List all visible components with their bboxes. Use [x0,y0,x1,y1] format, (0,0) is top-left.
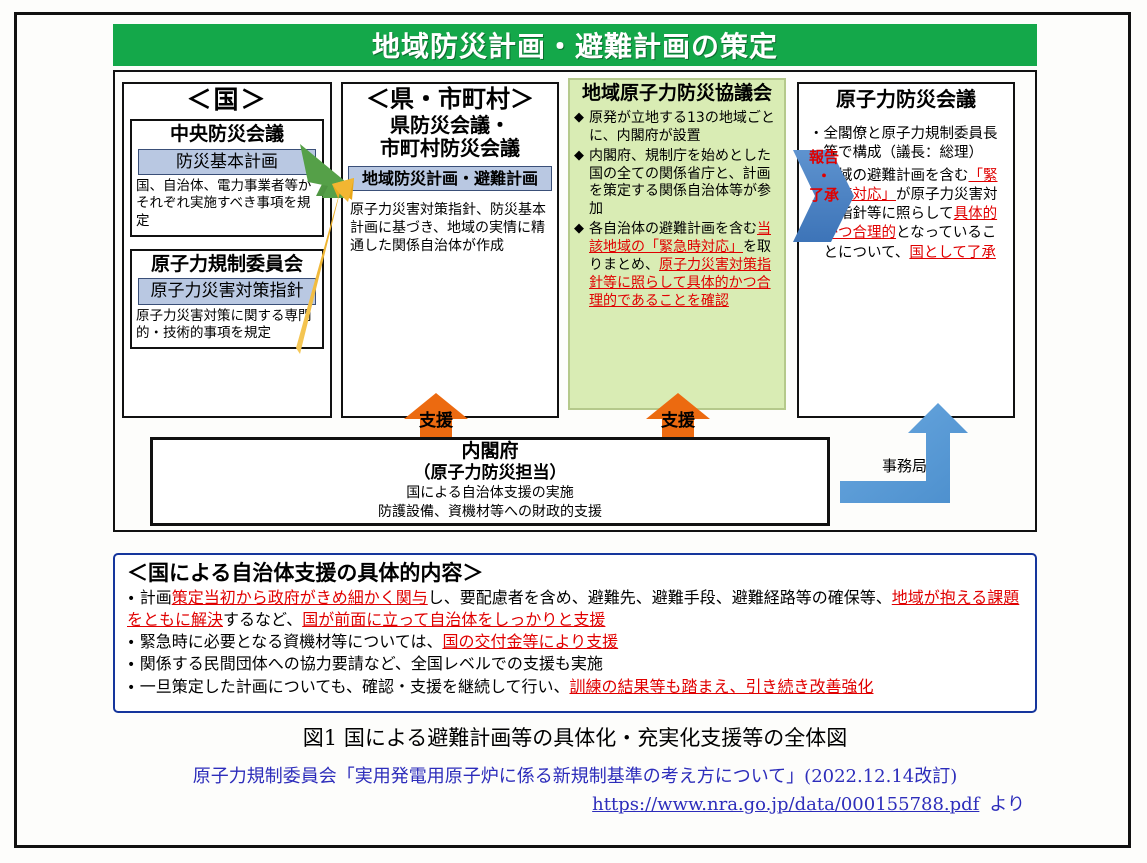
source-url-line: https://www.nra.go.jp/data/000155788.pdf… [113,790,1037,816]
column-regional-nuclear-council-heading: 地域原子力防災協議会 [570,80,784,105]
column-prefecture-body: 原子力災害対策指針、防災基本計画に基づき、地域の実情に精通した関係自治体が作成 [350,201,550,256]
text-segment-0-1: 策定当初から政府がきめ細かく関与 [172,588,428,607]
report-approval-arrow: 報告 ・ 了承 [793,140,855,252]
bullet-marker-icon: ◆ [574,110,589,146]
bullet-item: ◆各自治体の避難計画を含む当該地域の「緊急時対応」を取りまとめ、原子力災害対策指… [574,221,781,311]
text-segment-1-0: 内閣府、規制庁を始めとした国の全ての関係省庁と、計画を策定する関係自治体等が参加 [589,148,771,218]
bullet-marker-icon: ◆ [574,148,589,220]
source-url-link[interactable]: https://www.nra.go.jp/data/000155788.pdf [592,794,979,815]
box-central-disaster-council-body: 国、自治体、電力事業者等がそれぞれ実施すべき事項を規定 [136,178,318,231]
box-central-disaster-council-title: 中央防災会議 [136,123,318,146]
report-approval-label: 報告 ・ 了承 [793,148,855,204]
support-detail-line: • 関係する民間団体への協力要請など、全国レベルでの支援も実施 [127,653,1025,674]
column-national: ＜国＞ 中央防災会議 防災基本計画 国、自治体、電力事業者等がそれぞれ実施すべき… [122,82,332,418]
highlight-basic-disaster-plan: 防災基本計画 [138,149,316,175]
support-arrow-left-label: 支援 [404,406,468,431]
bullet-marker-icon: • [127,680,140,696]
bullet-text: 原発が立地する13の地域ごとに、内閣府が設置 [589,110,781,146]
box-central-disaster-council: 中央防災会議 防災基本計画 国、自治体、電力事業者等がそれぞれ実施すべき事項を規… [130,119,324,237]
support-arrow-right-label: 支援 [646,406,710,431]
support-detail-line: • 計画策定当初から政府がきめ細かく関与し、要配慮者を含め、避難先、避難手段、避… [127,587,1025,630]
text-segment-2-0: 関係する民間団体への協力要請など、全国レベルでの支援も実施 [140,654,603,673]
text-segment-1-1: 国の交付金等により支援 [442,632,618,651]
cabinet-office-detail-1: 国による自治体支援の実施 [406,484,574,503]
cabinet-office-name: 内閣府 [461,441,518,463]
support-details-title: ＜国による自治体支援の具体的内容＞ [127,561,1025,586]
secretariat-label: 事務局 [882,455,927,476]
text-segment-1-5: 国として了承 [909,245,996,261]
highlight-regional-disaster-evacuation-plan: 地域防災計画・避難計画 [348,166,552,191]
report-label-line1: 報告 [793,148,855,167]
bullet-item: ◆原発が立地する13の地域ごとに、内閣府が設置 [574,110,781,146]
column-prefecture-heading-line3: 市町村防災会議 [343,137,557,160]
bullet-item: ◆内閣府、規制庁を始めとした国の全ての関係省庁と、計画を策定する関係自治体等が参… [574,148,781,220]
text-segment-2-1: む [743,221,757,237]
bullet-marker-icon: ◆ [574,221,589,311]
text-segment-0-2: し、要配慮者を含め、避難先、避難手段、避難経路等の確保等、 [428,588,892,607]
title-banner: 地域防災計画・避難計画の策定 [113,24,1037,66]
highlight-nuclear-guideline: 原子力災害対策指針 [138,278,316,304]
bullet-marker-icon: • [127,657,140,673]
page-title: 地域防災計画・避難計画の策定 [372,25,778,65]
column-regional-nuclear-council: 地域原子力防災協議会 ◆原発が立地する13の地域ごとに、内閣府が設置◆内閣府、規… [568,78,786,410]
column-national-heading: ＜国＞ [124,84,330,115]
figure-caption: 図1 国による避難計画等の具体化・充実化支援等の全体図 [113,722,1037,752]
report-label-line2: ・ [793,167,855,186]
text-segment-3-1: 訓練の結果等も踏まえ、引き続き改善強化 [569,677,873,696]
column-prefecture-heading-line2: 県防災会議・ [343,114,557,137]
column-prefecture-heading-line1: ＜県・市町村＞ [343,86,557,114]
cabinet-office-subtitle: （原子力防災担当） [414,463,567,483]
text-segment-0-5: 国が前面に立って自治体をしっかりと支援 [302,610,605,629]
cabinet-office-detail-2: 防護設備、資機材等への財政的支援 [378,503,602,522]
report-label-line3: 了承 [793,186,855,205]
column-nuclear-disaster-council-heading: 原子力防災会議 [799,84,1013,111]
column-prefecture-municipality: ＜県・市町村＞ 県防災会議・ 市町村防災会議 地域防災計画・避難計画 原子力災害… [341,82,559,418]
box-nra-committee: 原子力規制委員会 原子力災害対策指針 原子力災害対策に関する専門的・技術的事項を… [130,249,324,349]
column-prefecture-heading: ＜県・市町村＞ 県防災会議・ 市町村防災会議 [343,84,557,160]
support-detail-line: • 一旦策定した計画についても、確認・支援を継続して行い、訓練の結果等も踏まえ、… [127,676,1025,697]
source-citation: 原子力規制委員会「実用発電用原子炉に係る新規制基準の考え方について」(2022.… [113,762,1037,788]
text-segment-3-0: 一旦策定した計画についても、確認・支援を継続して行い、 [140,677,570,696]
source-suffix: より [989,794,1025,815]
support-details-box: ＜国による自治体支援の具体的内容＞ • 計画策定当初から政府がきめ細かく関与し、… [113,553,1037,713]
text-segment-2-0: 各自治体の避難計画を含 [589,221,743,237]
bullet-text: 内閣府、規制庁を始めとした国の全ての関係省庁と、計画を策定する関係自治体等が参加 [589,148,781,220]
text-segment-0-0: 原発が立地する13の地域ごとに、内閣府が設置 [589,110,775,144]
support-details-lines: • 計画策定当初から政府がきめ細かく関与し、要配慮者を含め、避難先、避難手段、避… [127,587,1025,697]
bullet-text: 各自治体の避難計画を含む当該地域の「緊急時対応」を取りまとめ、原子力災害対策指針… [589,221,781,311]
text-segment-0-0: 計画 [140,588,172,607]
bullet-marker-icon: • [127,591,140,607]
text-segment-1-0: 緊急時に必要となる資機材等については、 [140,632,443,651]
text-segment-0-4: するなど、 [223,610,302,629]
box-nra-committee-title: 原子力規制委員会 [136,253,318,276]
bullet-marker-icon: • [127,635,140,651]
cabinet-office-box: 内閣府 （原子力防災担当） 国による自治体支援の実施 防護設備、資機材等への財政… [150,437,830,526]
support-detail-line: • 緊急時に必要となる資機材等については、国の交付金等により支援 [127,631,1025,652]
column-regional-nuclear-council-bullets: ◆原発が立地する13の地域ごとに、内閣府が設置◆内閣府、規制庁を始めとした国の全… [574,110,781,311]
box-nra-committee-body: 原子力災害対策に関する専門的・技術的事項を規定 [136,308,318,343]
